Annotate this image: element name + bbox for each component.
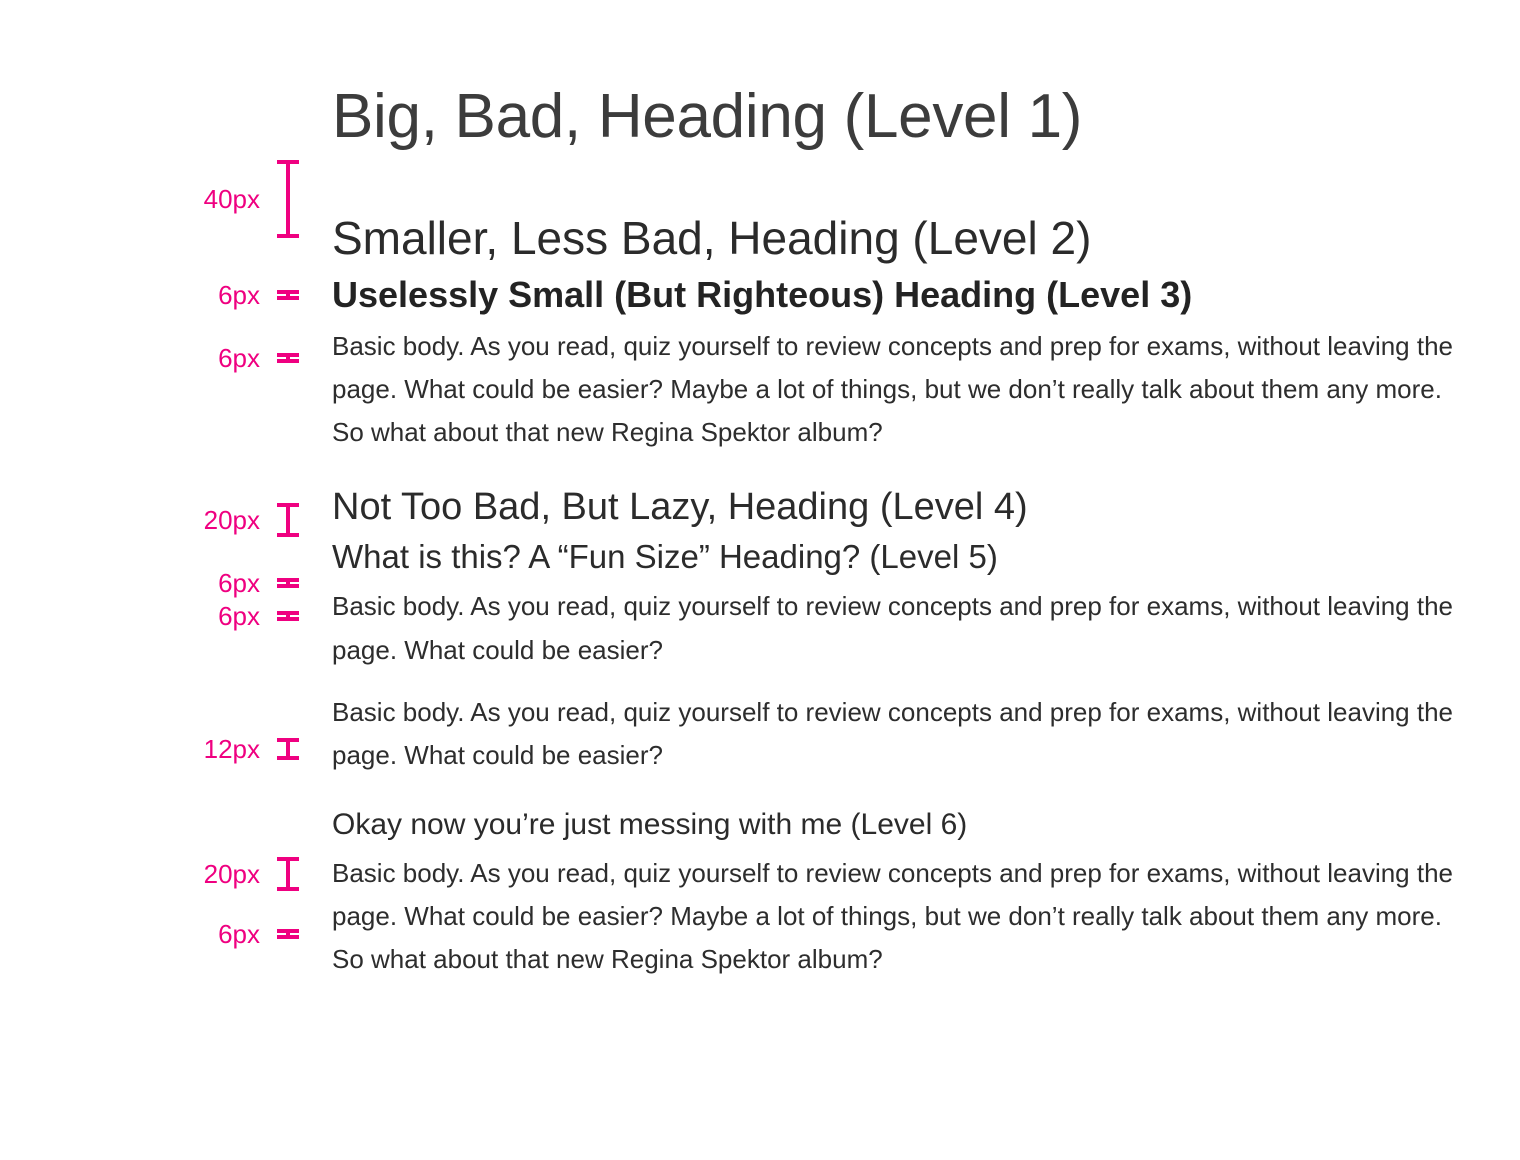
content-column: Big, Bad, Heading (Level 1) Smaller, Les…	[332, 0, 1472, 981]
ibeam-stem-icon	[286, 357, 290, 359]
ibeam-cap-bottom-icon	[277, 234, 299, 238]
heading-level-2: Smaller, Less Bad, Heading (Level 2)	[332, 212, 1472, 264]
ibeam-cap-bottom-icon	[277, 584, 299, 588]
spacing-ibeam-icon	[276, 353, 300, 363]
ibeam-cap-bottom-icon	[277, 935, 299, 939]
ibeam-cap-bottom-icon	[277, 756, 299, 760]
spacing-marker-label: 6px	[218, 570, 260, 596]
ibeam-stem-icon	[286, 294, 290, 296]
spacing-marker-12px: 12px	[0, 738, 300, 760]
ibeam-cap-top-icon	[277, 290, 299, 294]
spacing-marker-label: 6px	[218, 282, 260, 308]
spacing-marker-20px: 20px	[0, 857, 300, 891]
spacing-ibeam-icon	[276, 611, 300, 621]
spacing-marker-6px: 6px	[0, 578, 300, 588]
spacing-marker-6px: 6px	[0, 290, 300, 300]
spacing-ibeam-icon	[276, 503, 300, 537]
heading-level-5: What is this? A “Fun Size” Heading? (Lev…	[332, 538, 1472, 576]
ibeam-cap-bottom-icon	[277, 296, 299, 300]
heading-level-1: Big, Bad, Heading (Level 1)	[332, 82, 1472, 151]
ibeam-cap-top-icon	[277, 578, 299, 582]
ibeam-cap-top-icon	[277, 160, 299, 164]
spacing-ibeam-icon	[276, 929, 300, 939]
paragraph-short-2: Basic body. As you read, quiz yourself t…	[332, 691, 1472, 777]
ibeam-cap-bottom-icon	[277, 887, 299, 891]
ibeam-cap-bottom-icon	[277, 359, 299, 363]
ibeam-stem-icon	[286, 582, 290, 584]
ibeam-cap-top-icon	[277, 738, 299, 742]
spacing-marker-6px: 6px	[0, 353, 300, 363]
ibeam-cap-bottom-icon	[277, 617, 299, 621]
heading-level-6: Okay now you’re just messing with me (Le…	[332, 808, 1472, 843]
typography-specimen-page: 40px6px6px20px6px6px12px20px6px Big, Bad…	[0, 0, 1520, 1160]
ibeam-stem-icon	[286, 742, 290, 756]
ibeam-cap-top-icon	[277, 353, 299, 357]
spacing-marker-20px: 20px	[0, 503, 300, 537]
heading-level-4: Not Too Bad, But Lazy, Heading (Level 4)	[332, 485, 1472, 529]
ibeam-stem-icon	[286, 861, 290, 887]
paragraph-short-1: Basic body. As you read, quiz yourself t…	[332, 585, 1472, 671]
ibeam-stem-icon	[286, 164, 290, 234]
ibeam-cap-bottom-icon	[277, 533, 299, 537]
ibeam-stem-icon	[286, 933, 290, 935]
spacing-ibeam-icon	[276, 290, 300, 300]
ibeam-stem-icon	[286, 615, 290, 617]
spacing-marker-label: 20px	[204, 507, 260, 533]
spacing-ibeam-icon	[276, 160, 300, 238]
spacing-ibeam-icon	[276, 738, 300, 760]
spacing-marker-label: 6px	[218, 345, 260, 371]
ibeam-cap-top-icon	[277, 503, 299, 507]
spacing-marker-label: 6px	[218, 603, 260, 629]
spacing-marker-6px: 6px	[0, 929, 300, 939]
ibeam-cap-top-icon	[277, 929, 299, 933]
ibeam-cap-top-icon	[277, 857, 299, 861]
paragraph-long-2: Basic body. As you read, quiz yourself t…	[332, 852, 1472, 981]
spacing-marker-label: 20px	[204, 861, 260, 887]
spacing-marker-40px: 40px	[0, 160, 300, 238]
spacing-marker-label: 6px	[218, 921, 260, 947]
spacing-ibeam-icon	[276, 578, 300, 588]
spacing-ibeam-icon	[276, 857, 300, 891]
spacing-marker-label: 40px	[204, 186, 260, 212]
paragraph-long-1: Basic body. As you read, quiz yourself t…	[332, 325, 1472, 454]
spacing-marker-label: 12px	[204, 736, 260, 762]
ibeam-cap-top-icon	[277, 611, 299, 615]
ibeam-stem-icon	[286, 507, 290, 533]
spacing-marker-6px: 6px	[0, 611, 300, 621]
heading-level-3: Uselessly Small (But Righteous) Heading …	[332, 274, 1472, 316]
